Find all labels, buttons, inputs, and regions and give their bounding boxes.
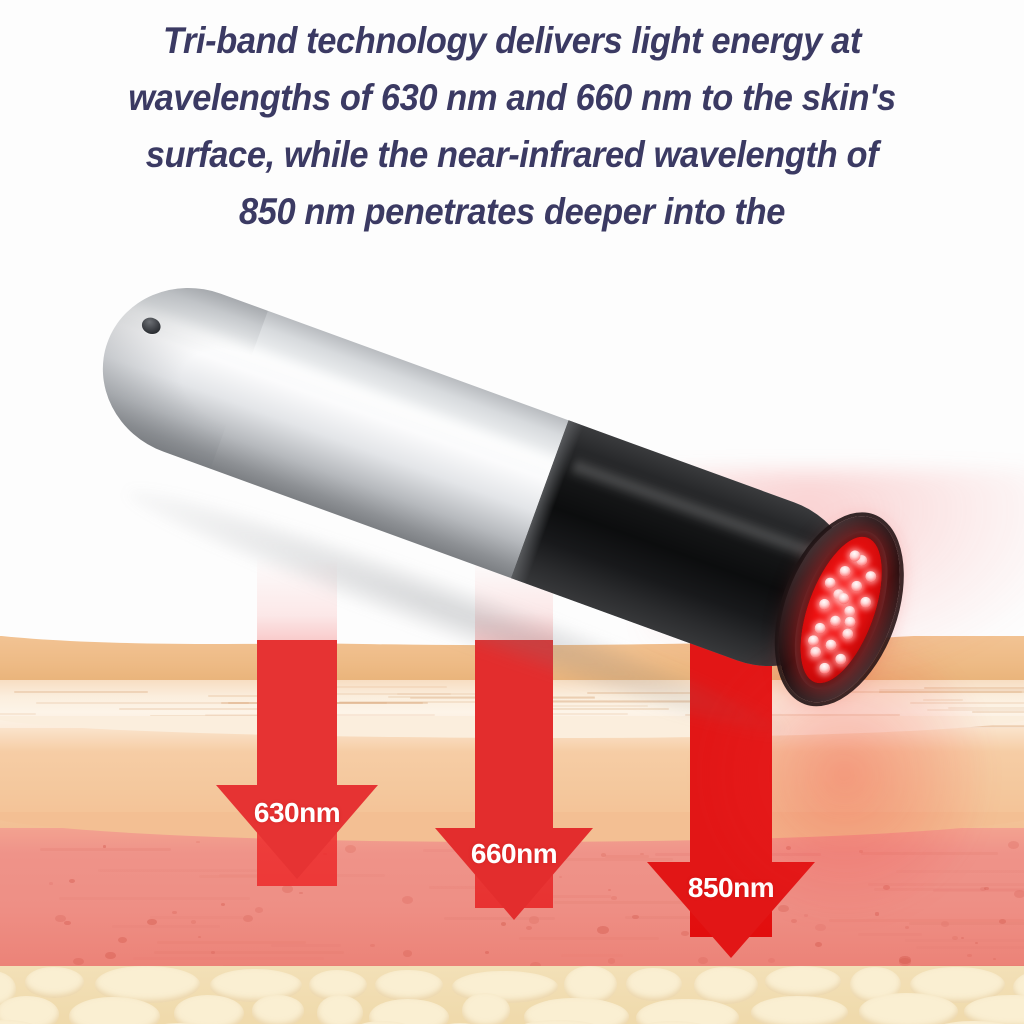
dermis-speck — [282, 885, 293, 893]
dermis-speck — [118, 937, 128, 944]
dermis-speck — [815, 942, 823, 947]
dermis-streak — [858, 933, 922, 936]
fat-cell — [859, 993, 958, 1024]
fat-cell — [765, 966, 842, 997]
dermis-streak — [561, 954, 623, 957]
stratum-striation — [948, 707, 1024, 709]
dermis-speck — [993, 958, 996, 960]
stratum-striation — [923, 699, 963, 701]
led-dot — [855, 553, 869, 567]
led-dot — [843, 604, 857, 618]
fat-cell — [626, 968, 682, 1001]
wand-silver-barrel — [79, 263, 879, 691]
dermis-speck — [768, 958, 775, 963]
dermis-speck — [526, 926, 532, 930]
dermis-speck — [905, 926, 909, 929]
dermis-streak — [519, 937, 659, 940]
stratum-striation — [972, 711, 1024, 713]
led-dot — [848, 549, 862, 563]
dermis-speck — [875, 912, 879, 915]
dermis-streak — [112, 925, 221, 928]
dermis-streak — [150, 916, 243, 919]
dermis-streak — [133, 957, 324, 960]
dermis-streak — [829, 919, 1024, 922]
headline-line-2: wavelengths of 630 nm and 660 nm to the … — [36, 69, 988, 126]
fat-cell — [25, 967, 84, 998]
dermis-streak — [154, 951, 345, 954]
dermis-speck — [370, 944, 375, 948]
led-dot — [818, 597, 832, 611]
dermis-speck — [608, 958, 615, 963]
fat-cell — [317, 995, 363, 1024]
headline-line-4: 850 nm penetrates deeper into the — [36, 183, 988, 240]
dermis-streak — [605, 855, 649, 858]
led-dot — [838, 564, 852, 578]
fat-cell — [252, 995, 304, 1024]
dermis-streak — [909, 922, 1024, 925]
dermis-streak — [916, 946, 1024, 949]
fat-cell — [462, 993, 511, 1024]
headline-line-1: Tri-band technology delivers light energ… — [36, 12, 988, 69]
black-section-edge-highlight — [511, 420, 583, 583]
led-dot — [864, 570, 878, 584]
dermis-streak — [59, 897, 250, 900]
dermis-speck — [221, 903, 225, 906]
dermis-speck — [69, 879, 75, 883]
dermis-streak — [896, 870, 1024, 873]
dermis-speck — [49, 882, 53, 885]
dermis-speck — [191, 920, 196, 924]
dermis-speck — [172, 911, 177, 915]
stratum-striation — [14, 691, 149, 693]
dermis-speck — [402, 896, 414, 904]
arrow-stem — [690, 640, 772, 862]
dermis-speck — [975, 942, 978, 944]
led-dot — [837, 592, 851, 606]
wavelength-label-850: 850nm — [688, 872, 774, 904]
dermis-speck — [611, 896, 616, 900]
dermis-speck — [73, 958, 84, 966]
led-dot — [843, 615, 857, 629]
dermis-speck — [597, 926, 609, 934]
stratum-striation — [397, 693, 452, 695]
dermis-speck — [64, 921, 71, 926]
stratum-striation — [924, 687, 1024, 689]
dermis-streak — [874, 888, 1024, 891]
black-section-sheen — [570, 455, 850, 575]
headline-text: Tri-band technology delivers light energ… — [0, 12, 1024, 240]
led-dot — [859, 595, 873, 609]
dermis-streak — [861, 852, 998, 855]
stratum-striation — [910, 702, 1024, 704]
dermis-speck — [403, 950, 412, 957]
stratum-striation — [0, 713, 36, 715]
dermis-speck — [608, 889, 611, 891]
dermis-speck — [299, 892, 303, 895]
dermis-speck — [243, 915, 253, 922]
wavelength-label-660: 660nm — [471, 838, 557, 870]
power-button[interactable] — [140, 315, 163, 337]
dermis-speck — [198, 936, 202, 939]
stratum-striation — [879, 691, 1024, 693]
dermis-speck — [485, 951, 489, 954]
product-infographic: Tri-band technology delivers light energ… — [0, 0, 1024, 1024]
stratum-striation — [36, 702, 249, 704]
led-dot — [823, 576, 837, 590]
dermis-streak — [271, 944, 341, 947]
fat-cell — [751, 996, 848, 1024]
dermis-speck — [815, 924, 826, 931]
skin-layer-subcutaneous-fat — [0, 966, 1024, 1024]
fat-cell — [375, 970, 442, 1001]
barrel-cap-shading — [79, 263, 268, 469]
dermis-speck — [1008, 841, 1019, 849]
dermis-speck — [786, 846, 791, 850]
led-dot — [832, 588, 846, 602]
dermis-speck — [967, 954, 971, 957]
red-light-therapy-wand — [105, 236, 915, 581]
dermis-speck — [501, 922, 506, 926]
dermis-speck — [255, 907, 264, 913]
dermis-streak — [868, 883, 1024, 886]
led-dot — [828, 614, 842, 628]
dermis-streak — [40, 848, 171, 851]
led-dot — [850, 579, 864, 593]
fat-cell — [694, 967, 758, 1005]
arrow-stem — [257, 640, 337, 785]
barrel-specular-sheen — [114, 295, 867, 593]
arrow-stem — [475, 640, 553, 828]
dermis-speck — [103, 845, 106, 847]
led-dot — [813, 621, 827, 635]
dermis-speck — [196, 841, 200, 844]
dermis-speck — [105, 952, 116, 960]
headline-line-3: surface, while the near-infrared wavelen… — [36, 126, 988, 183]
wavelength-label-630: 630nm — [254, 797, 340, 829]
dermis-streak — [905, 939, 1024, 942]
